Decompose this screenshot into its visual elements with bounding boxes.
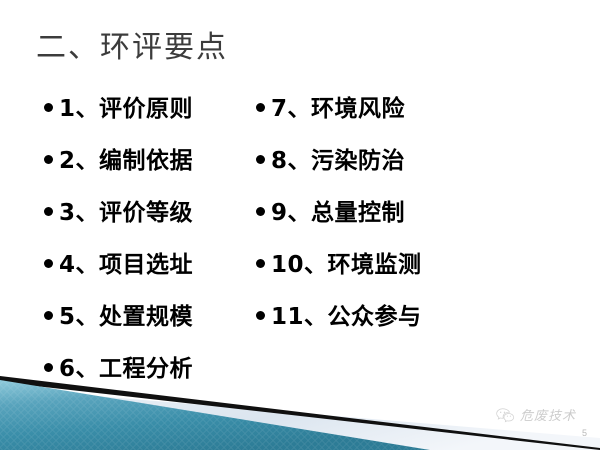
list-item-label: 6、工程分析 xyxy=(59,356,193,382)
list-item[interactable]: 8、污染防治 xyxy=(256,148,422,200)
list-item-label: 11、公众参与 xyxy=(271,304,422,330)
wechat-logo-icon xyxy=(495,407,515,423)
bullet-dot-icon xyxy=(256,207,265,216)
list-item-label: 10、环境监测 xyxy=(271,252,422,278)
bullet-dot-icon xyxy=(44,363,53,372)
list-item-label: 9、总量控制 xyxy=(271,200,405,226)
list-item[interactable]: 3、评价等级 xyxy=(44,200,193,252)
list-item-label: 3、评价等级 xyxy=(59,200,193,226)
bullet-dot-icon xyxy=(44,207,53,216)
bullet-column-right: 7、环境风险 8、污染防治 9、总量控制 10、环境监测 11、公众参与 xyxy=(256,96,422,356)
list-item[interactable]: 7、环境风险 xyxy=(256,96,422,148)
watermark-label: 危废技术 xyxy=(520,405,576,424)
list-item[interactable]: 9、总量控制 xyxy=(256,200,422,252)
page-number: 5 xyxy=(582,428,587,438)
list-item[interactable]: 5、处置规模 xyxy=(44,304,193,356)
slide-canvas: 二、环评要点 1、评价原则 2、编制依据 3、评价等级 4、项目选址 5、处置规… xyxy=(0,0,600,450)
watermark: 危废技术 xyxy=(495,405,576,424)
page-title: 二、环评要点 xyxy=(36,28,228,68)
list-item[interactable]: 6、工程分析 xyxy=(44,356,193,408)
bullet-dot-icon xyxy=(44,259,53,268)
bullet-column-left: 1、评价原则 2、编制依据 3、评价等级 4、项目选址 5、处置规模 6、工程分… xyxy=(44,96,193,408)
list-item-label: 7、环境风险 xyxy=(271,96,405,122)
list-item-label: 5、处置规模 xyxy=(59,304,193,330)
bullet-dot-icon xyxy=(256,155,265,164)
list-item-label: 8、污染防治 xyxy=(271,148,405,174)
list-item-label: 2、编制依据 xyxy=(59,148,193,174)
bullet-dot-icon xyxy=(44,103,53,112)
list-item-label: 1、评价原则 xyxy=(59,96,193,122)
list-item[interactable]: 10、环境监测 xyxy=(256,252,422,304)
bullet-dot-icon xyxy=(256,259,265,268)
list-item[interactable]: 2、编制依据 xyxy=(44,148,193,200)
list-item[interactable]: 4、项目选址 xyxy=(44,252,193,304)
list-item[interactable]: 11、公众参与 xyxy=(256,304,422,356)
bullet-dot-icon xyxy=(256,311,265,320)
bullet-dot-icon xyxy=(256,103,265,112)
list-item[interactable]: 1、评价原则 xyxy=(44,96,193,148)
bullet-dot-icon xyxy=(44,311,53,320)
list-item-label: 4、项目选址 xyxy=(59,252,193,278)
bullet-dot-icon xyxy=(44,155,53,164)
